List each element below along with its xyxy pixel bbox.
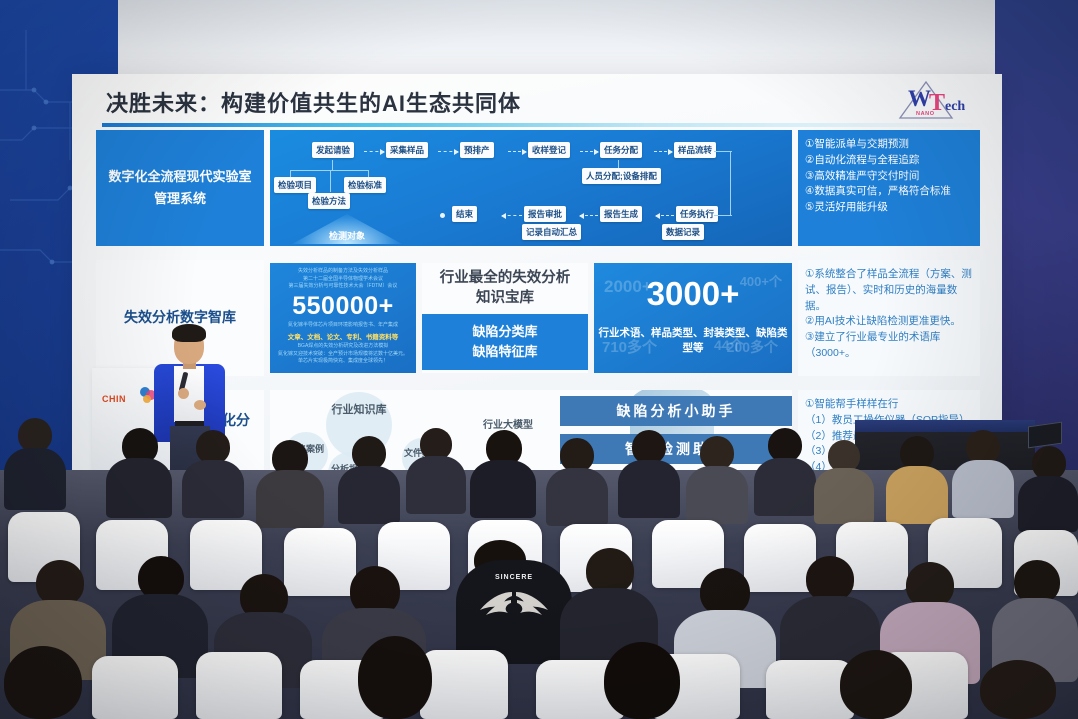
flow-node: 预排产 (460, 142, 494, 158)
defect-feature-library: 缺陷特征库 (426, 342, 584, 362)
audience-head-front (980, 660, 1056, 719)
audience-body (814, 468, 874, 524)
chair (284, 528, 356, 596)
audience-body (4, 448, 66, 510)
note-line: ①智能派单与交期预测 (805, 137, 974, 153)
flow-child-node: 检验方法 (308, 193, 350, 209)
flow-child-node: 数据记录 (662, 224, 704, 240)
svg-text:W: W (908, 86, 931, 111)
audience-head (196, 430, 230, 464)
flow-node: 报告生成 (600, 206, 642, 222)
note-line: ③建立了行业最专业的术语库（3000+。 (805, 330, 974, 362)
flow-node: 结束 (452, 206, 477, 222)
flow-arrow (580, 151, 598, 152)
audience-body (546, 468, 608, 526)
audience-head-front (4, 646, 82, 719)
audience-head (632, 430, 666, 464)
flow-node: 发起请验 (312, 142, 354, 158)
flow-arrow (364, 151, 384, 152)
row1-flow-diagram: 发起请验 采集样品 预排产 收样登记 任务分配 样品流转 (270, 130, 792, 246)
flow-node: 采集样品 (386, 142, 428, 158)
backdrop-right-panel (995, 0, 1078, 470)
panel-550-line7: 单芯片实现极简快充、集成度全球领先！ (274, 358, 412, 366)
chair (420, 650, 508, 719)
defect-class-library: 缺陷分类库 (426, 322, 584, 342)
audience-head (900, 436, 934, 470)
row2-content: 失效分析样品的制备方法及失效分析样品 第二十二届全国半导体物理学术会议 第三届失… (270, 260, 792, 376)
podium-logo-text: CHIN (102, 394, 126, 404)
note-line: ①系统整合了样品全流程（方案、测试、报告）、实时和历史的海量数据。 (805, 267, 974, 314)
chair (196, 652, 282, 719)
row1-notes: ①智能派单与交期预测 ②自动化流程与全程追踪 ③高效精准严守交付时间 ④数据真实… (798, 130, 980, 246)
audience-head (768, 428, 802, 462)
audience-body (182, 460, 244, 518)
audience-body (886, 466, 948, 524)
audience-head (560, 438, 594, 472)
room-wall-highlight (70, 0, 1002, 74)
panel-mid-sub: 缺陷分类库 缺陷特征库 (422, 314, 588, 370)
flow-arrow (580, 215, 598, 216)
flow-subnode-assignment: 人员分配;设备排配 (582, 168, 661, 184)
audience-body (338, 466, 400, 524)
cone-label: 检测对象 (292, 229, 402, 242)
flow-node: 任务执行 (676, 206, 718, 222)
flow-node: 任务分配 (600, 142, 642, 158)
flow-loop-connector (714, 151, 732, 152)
note-line: ④数据真实可信，严格符合标准 (805, 184, 974, 200)
row1-label: 数字化全流程现代实验室管理系统 (96, 130, 264, 246)
flow-connector (618, 160, 619, 168)
audience-head (1032, 446, 1066, 480)
row2-notes: ①系统整合了样品全流程（方案、测试、报告）、实时和历史的海量数据。 ②用AI技术… (798, 260, 980, 376)
audience-head (966, 430, 1000, 464)
speaker-hand-right (194, 400, 206, 410)
audience-body (106, 458, 172, 518)
note-line: ⑤灵活好用能升级 (805, 200, 974, 216)
panel-3000-caption: 行业术语、样品类型、封装类型、缺陷类型等 (594, 325, 792, 355)
audience-body (406, 456, 466, 514)
flow-connector (330, 170, 331, 192)
chair (92, 656, 178, 719)
flow-connector (290, 170, 368, 171)
wings-graphic-icon (468, 582, 560, 626)
flow-node: 收样登记 (528, 142, 570, 158)
flow-arrow (654, 151, 672, 152)
flow-node: 报告审批 (524, 206, 566, 222)
audience-body (1018, 476, 1078, 532)
audience-body (470, 460, 536, 518)
flow-arrow (656, 215, 674, 216)
panel-550-line2: 第二十二届全国半导体物理学术会议 (274, 276, 412, 284)
svg-text:NANO: NANO (916, 111, 935, 117)
jacket-brand-text: SINCERE (456, 574, 572, 581)
flow-child-node: 记录自动汇总 (522, 224, 581, 240)
panel-mid-title: 行业最全的失效分析知识宝库 (422, 263, 588, 308)
flow-loop-connector (730, 151, 731, 215)
panel-550-line3: 第三届失效分析与可靠性技术大会（FDTM）会议 (274, 283, 412, 291)
panel-550-line4: 氮化镓半导体芯片项目环境影响报告书、年产集成 (274, 322, 412, 330)
audience-head-front (358, 636, 432, 719)
panel-3000-number: 3000+ (594, 263, 792, 313)
panel-knowledge-base: 行业最全的失效分析知识宝库 缺陷分类库 缺陷特征库 (422, 263, 588, 373)
panel-550000: 失效分析样品的制备方法及失效分析样品 第二十二届全国半导体物理学术会议 第三届失… (270, 263, 416, 373)
title-divider (102, 123, 982, 127)
slide-row-1: 数字化全流程现代实验室管理系统 发起请验 采集样品 预排产 收样登记 任务分配 … (96, 130, 980, 246)
slide-title: 决胜未来：构建价值共生的AI生态共同体 (106, 86, 521, 118)
flow-arrow (438, 151, 458, 152)
slide-header: 决胜未来：构建价值共生的AI生态共同体 W T ech NANO (72, 74, 1002, 126)
panel-550-line5: BGA焊点的失效分析研究及改进方法模拟 (274, 343, 412, 351)
svg-text:ech: ech (945, 99, 965, 114)
audience-body (754, 458, 816, 516)
panel-550-highlight: 文章、文档、论文、专利、书籍资料等 (274, 331, 412, 341)
note-line: ②自动化流程与全程追踪 (805, 153, 974, 169)
audience-body (256, 470, 324, 528)
note-line: ③高效精准严守交付时间 (805, 169, 974, 185)
flow-loop-connector (714, 215, 732, 216)
audience-body (618, 460, 680, 518)
audience-head-front (840, 650, 912, 719)
flow-child-node: 检验标准 (344, 177, 386, 193)
conference-scene: 决胜未来：构建价值共生的AI生态共同体 W T ech NANO 数字化全流程现… (0, 0, 1078, 719)
audience-head-front (604, 642, 680, 719)
bar-detection-assistant: 智能检测助手 (560, 434, 792, 464)
panel-550-line6: 氮化镓又迎技术突破：全产预计市场规模将达数十亿美元。 (274, 351, 412, 359)
bar-defect-assistant: 缺陷分析小助手 (560, 396, 792, 426)
speaker-hair (172, 324, 206, 342)
flow-node: 样品流转 (674, 142, 716, 158)
panel-3000: 2000+ 400+个 710多个 44个 200多个 3000+ 行业术语、样… (594, 263, 792, 373)
note-line: ①智能帮手样样在行 (805, 397, 974, 413)
speaker-hand-left (178, 388, 189, 399)
flow-endpoint-dot (440, 213, 445, 218)
flow-arrow (508, 151, 526, 152)
bubble-label-industry-kb: 行业知识库 (330, 404, 388, 418)
audience-head (18, 418, 52, 452)
flow-connector (332, 160, 333, 170)
panel-550-line1: 失效分析样品的制备方法及失效分析样品 (274, 268, 412, 276)
audience-head (352, 436, 386, 470)
audience-head (700, 436, 734, 470)
audience-body (952, 460, 1014, 518)
wtech-logo-icon: W T ech NANO (896, 76, 992, 124)
audience-body (686, 466, 748, 524)
note-line: ②用AI技术让缺陷检测更准更快。 (805, 314, 974, 330)
panel-550-number: 550000+ (274, 292, 412, 321)
flow-child-node: 检验项目 (274, 177, 316, 193)
flow-arrow (502, 215, 522, 216)
audience-body-sincere-jacket: SINCERE (456, 560, 572, 664)
audience-head (700, 568, 750, 616)
